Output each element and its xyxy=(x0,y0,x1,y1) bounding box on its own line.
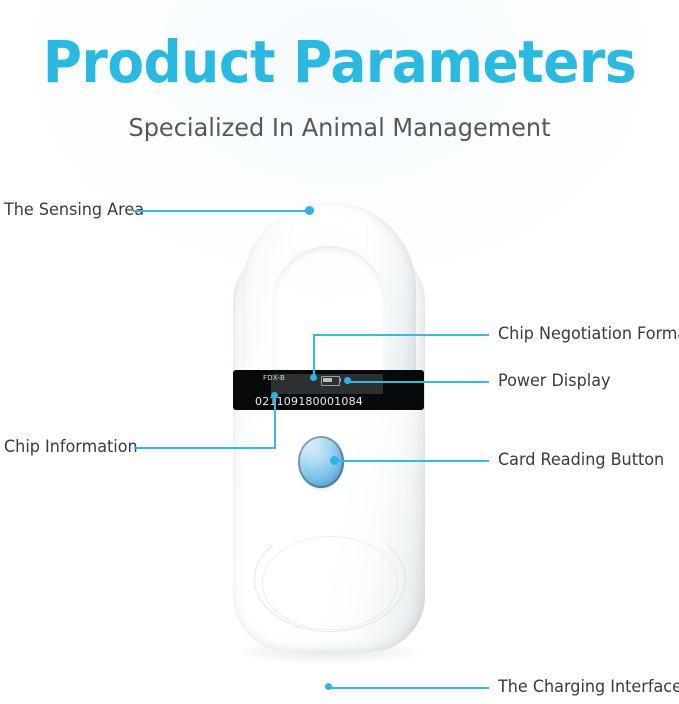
device-illustration: FDX-B 021109180001084 xyxy=(232,196,426,662)
callout-line-card-reading-button xyxy=(336,460,489,462)
callout-label-charging-interface: The Charging Interface xyxy=(498,677,679,697)
callout-dot-chip-format xyxy=(310,374,317,381)
callout-dot-sensing-area xyxy=(305,206,314,215)
callout-label-card-reading-button: Card Reading Button xyxy=(498,450,664,470)
callout-line-power-display xyxy=(348,381,489,383)
battery-level-fill xyxy=(323,378,332,382)
product-parameters-infographic: Product Parameters Specialized In Animal… xyxy=(0,0,679,704)
page-title: Product Parameters xyxy=(27,31,652,93)
callout-line-chip-format-h xyxy=(313,334,489,336)
device-screen: FDX-B 021109180001084 xyxy=(233,370,424,410)
callout-line-chip-information-h xyxy=(134,447,276,449)
callout-label-chip-information: Chip Information xyxy=(4,437,138,457)
device-bottom-ridge-inner xyxy=(262,536,398,630)
callout-label-sensing-area: The Sensing Area xyxy=(4,200,144,220)
callout-line-chip-information-v xyxy=(274,396,276,449)
battery-cap-icon xyxy=(339,378,341,382)
callout-dot-chip-information xyxy=(271,392,278,399)
callout-line-sensing-area xyxy=(133,210,309,212)
callout-dot-charging-interface xyxy=(325,683,332,690)
page-subtitle: Specialized In Animal Management xyxy=(14,113,666,143)
callout-dot-card-reading-button xyxy=(330,456,339,465)
battery-icon xyxy=(321,376,340,386)
callout-line-charging-interface xyxy=(330,687,489,689)
callout-label-power-display: Power Display xyxy=(498,371,610,391)
callout-label-chip-negotiation-format: Chip Negotiation Format xyxy=(498,324,679,344)
callout-dot-power-display xyxy=(344,377,351,384)
chip-format-readout: FDX-B xyxy=(233,374,315,382)
